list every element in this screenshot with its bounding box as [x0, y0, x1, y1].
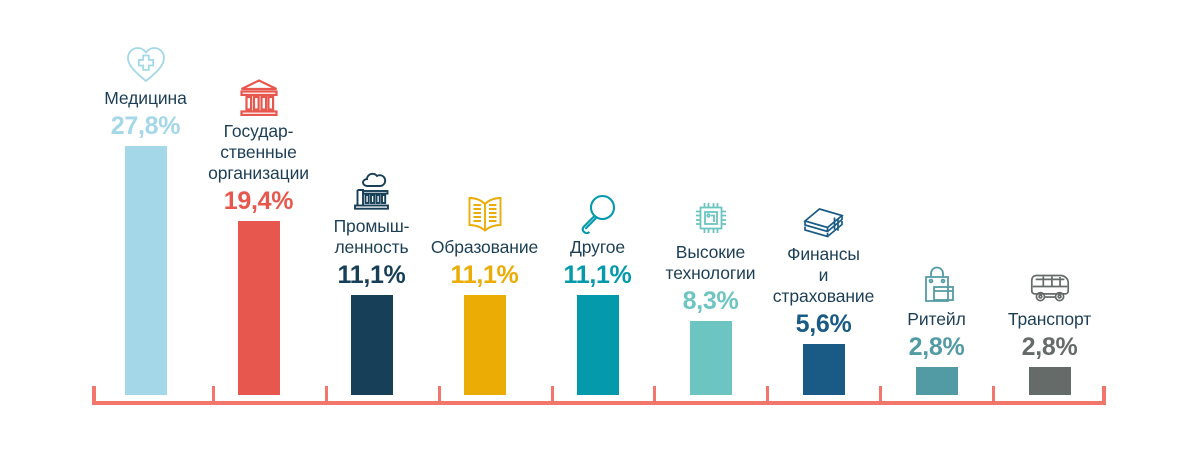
chart-axis-cap-start [92, 386, 96, 405]
chart-category-finance[interactable]: Финансы и страхование 5,6% [773, 197, 874, 395]
infographic-bar-chart: Медицина 27,8% Государ- ственные организ… [0, 0, 1201, 469]
money-stack-icon [801, 197, 847, 241]
chart-bar[interactable] [690, 321, 732, 395]
chart-value-label: 8,3% [683, 286, 739, 317]
chart-category-label: Государ- ственные организации [208, 121, 309, 184]
chart-bar[interactable] [916, 367, 958, 395]
chart-category-label: Другое [570, 237, 625, 258]
heart-medical-icon [123, 41, 169, 85]
chart-axis-tick [551, 386, 554, 402]
chart-value-label: 19,4% [224, 186, 293, 217]
chart-category-label: Финансы и страхование [773, 244, 874, 307]
chart-axis-tick [325, 386, 328, 402]
chart-bar[interactable] [577, 295, 619, 395]
chart-category-label: Транспорт [1008, 309, 1091, 330]
microchip-icon [688, 195, 734, 239]
chart-bar[interactable] [125, 146, 167, 395]
government-building-icon [236, 74, 282, 118]
bus-icon [1027, 262, 1073, 306]
chart-axis-tick [212, 386, 215, 402]
chart-axis-cap-end [1102, 386, 1106, 405]
chart-axis-tick [879, 386, 882, 402]
chart-category-retail[interactable]: Ритейл 2,8% [886, 262, 987, 395]
chart-value-label: 11,1% [563, 260, 631, 291]
chart-category-label: Образование [431, 237, 538, 258]
chart-bar[interactable] [351, 295, 393, 395]
chart-axis-tick [766, 386, 769, 402]
chart-bar[interactable] [464, 295, 506, 395]
chart-value-label: 2,8% [909, 332, 965, 363]
plot-area: Медицина 27,8% Государ- ственные организ… [0, 0, 1201, 469]
chart-category-education[interactable]: Образование 11,1% [434, 190, 535, 395]
chart-value-label: 2,8% [1022, 332, 1078, 363]
chart-value-label: 27,8% [111, 111, 180, 142]
chart-category-hightech[interactable]: Высокие технологии 8,3% [660, 195, 761, 395]
chart-category-label: Ритейл [907, 309, 965, 330]
chart-axis-line [92, 401, 1106, 405]
chart-category-medicine[interactable]: Медицина 27,8% [95, 41, 196, 395]
chart-category-label: Медицина [104, 88, 187, 109]
shopping-bag-card-icon [914, 262, 960, 306]
chart-bar[interactable] [803, 344, 845, 395]
chart-value-label: 5,6% [796, 309, 852, 340]
magnifier-icon [575, 190, 621, 234]
chart-bar[interactable] [238, 221, 280, 395]
chart-category-label: Промыш- ленность [334, 216, 410, 258]
chart-category-other[interactable]: Другое 11,1% [547, 190, 648, 395]
chart-value-label: 11,1% [450, 260, 518, 291]
chart-axis-tick [653, 386, 656, 402]
chart-value-label: 11,1% [337, 260, 405, 291]
chart-axis-tick [992, 386, 995, 402]
open-book-icon [462, 190, 508, 234]
chart-axis-tick [438, 386, 441, 402]
chart-category-government[interactable]: Государ- ственные организации 19,4% [208, 74, 309, 395]
chart-bar[interactable] [1029, 367, 1071, 395]
chart-category-transport[interactable]: Транспорт 2,8% [999, 262, 1100, 395]
factory-icon [349, 169, 395, 213]
chart-category-industry[interactable]: Промыш- ленность 11,1% [321, 169, 422, 395]
chart-category-label: Высокие технологии [665, 242, 755, 284]
